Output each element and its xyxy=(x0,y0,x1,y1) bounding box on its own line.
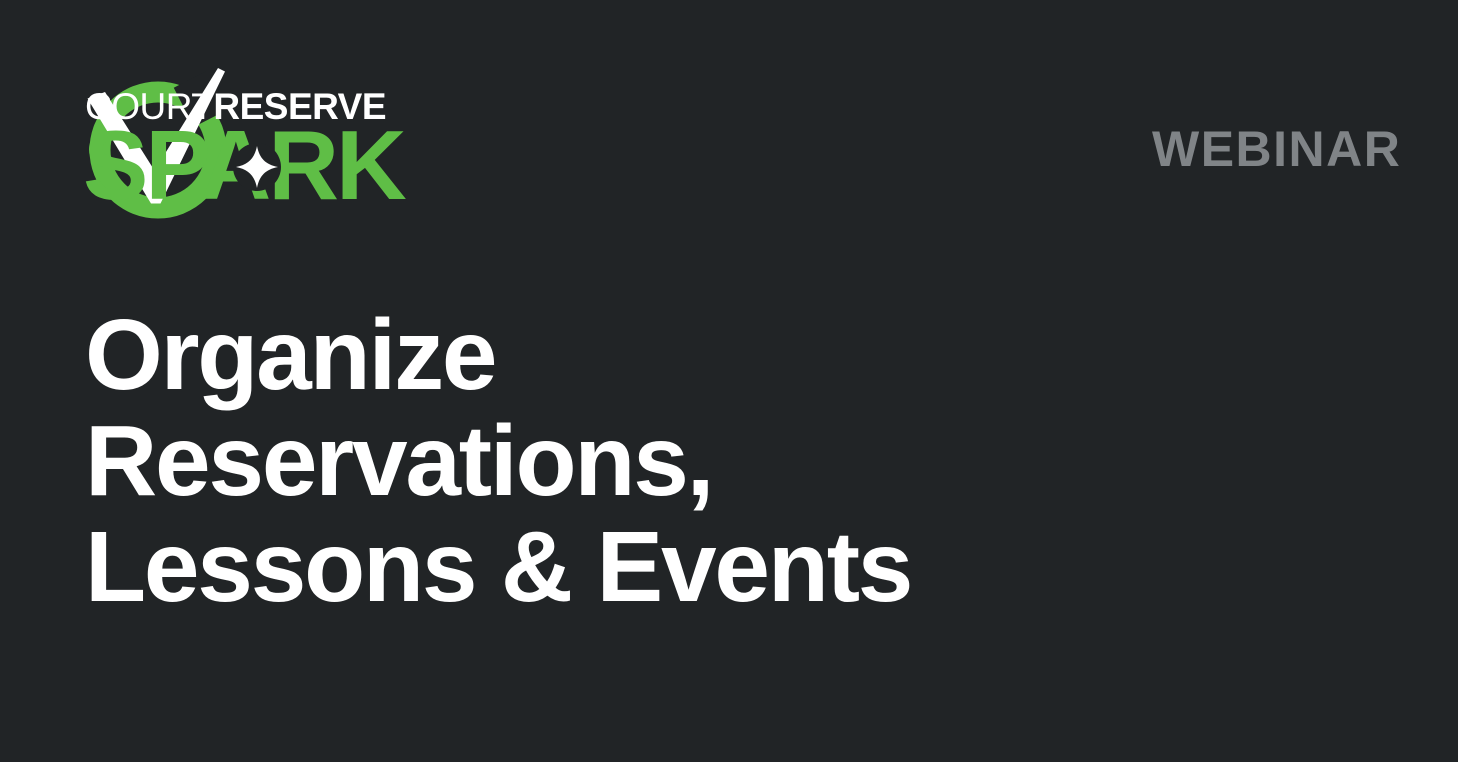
wordmark-spark: SPARK xyxy=(83,120,463,204)
page-title-line-2: Reservations, xyxy=(85,408,1185,514)
page-title-line-3: Lessons & Events xyxy=(85,514,1185,620)
webinar-title-slide: COURTRESERVE SPARK WEBINAR Organize Rese… xyxy=(0,0,1458,762)
webinar-eyebrow-label: WEBINAR xyxy=(1152,124,1401,174)
page-title-line-1: Organize xyxy=(85,302,1185,408)
page-title: Organize Reservations, Lessons & Events xyxy=(85,302,1185,620)
slide-header: COURTRESERVE SPARK WEBINAR xyxy=(0,0,1458,250)
courtreserve-spark-logo: COURTRESERVE SPARK xyxy=(85,62,625,232)
